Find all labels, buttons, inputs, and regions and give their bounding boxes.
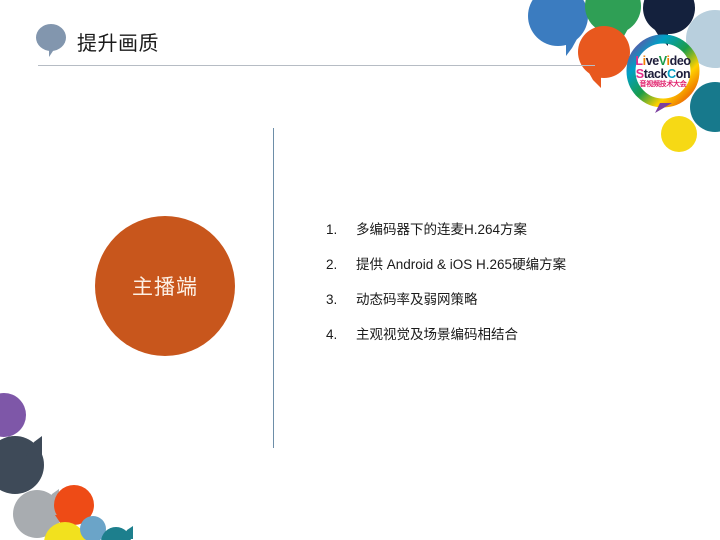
list-item-number: 1. <box>326 222 356 237</box>
page-title: 提升画质 <box>77 27 159 56</box>
logo-line2: StackCon <box>622 68 704 81</box>
list-item-number: 2. <box>326 257 356 272</box>
bubble-yellow <box>661 116 697 152</box>
list-item: 1. 多编码器下的连麦H.264方案 <box>326 218 626 238</box>
main-circle-broadcaster: 主播端 <box>95 216 235 356</box>
list-item-text: 动态码率及弱网策略 <box>356 288 626 308</box>
feature-list: 1. 多编码器下的连麦H.264方案 2. 提供 Android & iOS H… <box>326 218 626 358</box>
list-item: 2. 提供 Android & iOS H.265硬编方案 <box>326 253 626 273</box>
list-item-text: 提供 Android & iOS H.265硬编方案 <box>356 253 626 273</box>
bubble-teal2-tail <box>122 526 133 539</box>
logo-wordmark: LiveVideo StackCon 音视频技术大会 <box>622 55 704 88</box>
livevideostackcon-logo: LiveVideo StackCon 音视频技术大会 <box>622 33 704 113</box>
list-item: 3. 动态码率及弱网策略 <box>326 288 626 308</box>
list-item-number: 4. <box>326 327 356 342</box>
title-speech-bubble-icon <box>36 24 66 51</box>
bubble-purple <box>0 393 26 437</box>
list-item-text: 主观视觉及场景编码相结合 <box>356 323 626 343</box>
bubble-darkslate-tail <box>26 436 42 456</box>
list-item-text: 多编码器下的连麦H.264方案 <box>356 218 626 238</box>
slide-canvas: 提升画质 LiveVideo StackCon 音视频技术大会 <box>0 0 720 540</box>
list-item-number: 3. <box>326 292 356 307</box>
header-divider-rule <box>38 65 595 66</box>
logo-subtitle-cn: 音视频技术大会 <box>622 81 704 88</box>
bubble-orange-tail <box>584 64 601 88</box>
main-circle-label: 主播端 <box>132 271 198 301</box>
title-bubble-tail <box>49 44 58 57</box>
content-vertical-divider <box>273 128 274 448</box>
list-item: 4. 主观视觉及场景编码相结合 <box>326 323 626 343</box>
